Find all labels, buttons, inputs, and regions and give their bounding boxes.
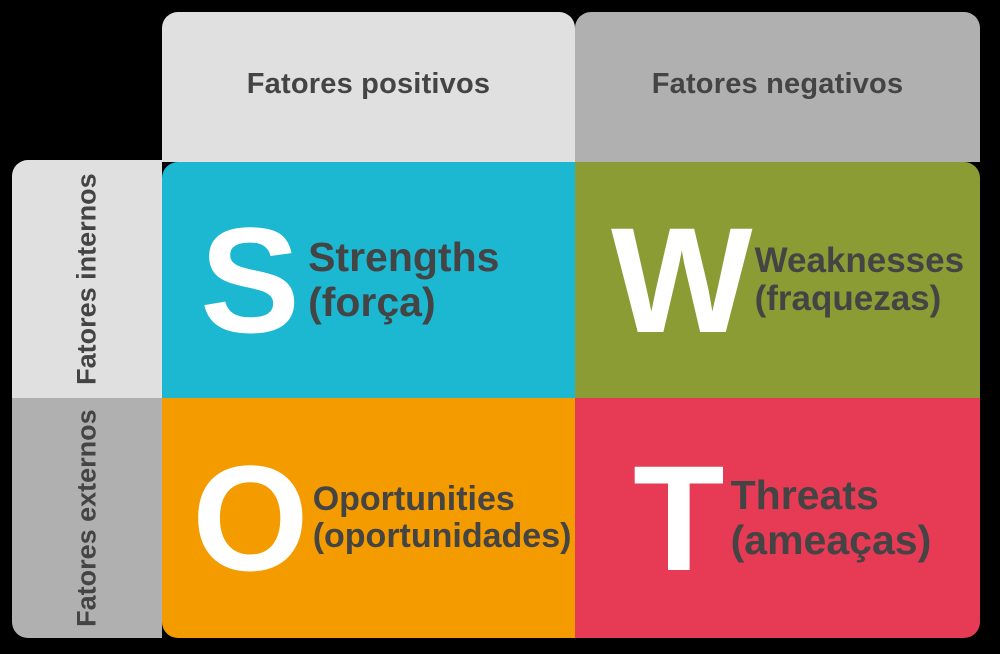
quadrant-weaknesses-letter: W (611, 220, 753, 340)
column-header-negative-factors: Fatores negativos (575, 12, 980, 162)
quadrant-threats[interactable]: T Threats (ameaças) (575, 398, 980, 638)
quadrant-weaknesses-title: Weaknesses (755, 242, 965, 281)
quadrant-opportunities-letter: O (192, 458, 309, 578)
quadrant-strengths-text: Strengths (força) (308, 235, 499, 325)
row-header-internal-factors: Fatores internos (12, 160, 162, 398)
quadrant-threats-letter: T (633, 458, 725, 578)
quadrant-threats-text: Threats (ameaças) (731, 473, 932, 563)
column-header-positive-label: Fatores positivos (247, 68, 491, 101)
quadrant-opportunities-title: Oportunities (313, 481, 572, 518)
quadrant-weaknesses[interactable]: W Weaknesses (fraquezas) (575, 162, 980, 398)
column-header-negative-label: Fatores negativos (652, 68, 904, 101)
row-header-external-label: Fatores externos (72, 409, 102, 627)
quadrant-opportunities-subtitle: (oportunidades) (313, 518, 572, 555)
row-header-external-factors: Fatores externos (12, 398, 162, 638)
quadrant-strengths-title: Strengths (308, 235, 499, 280)
quadrant-weaknesses-text: Weaknesses (fraquezas) (755, 242, 965, 319)
quadrant-opportunities[interactable]: O Oportunities (oportunidades) (162, 398, 575, 638)
quadrant-opportunities-text: Oportunities (oportunidades) (313, 481, 572, 556)
row-header-internal-label: Fatores internos (72, 173, 102, 385)
swot-matrix-diagram: Fatores positivos Fatores negativos Fato… (0, 0, 1000, 654)
quadrant-strengths-letter: S (200, 220, 300, 340)
column-header-positive-factors: Fatores positivos (162, 12, 575, 162)
quadrant-strengths-subtitle: (força) (308, 280, 499, 325)
quadrant-threats-title: Threats (731, 473, 932, 518)
quadrant-strengths[interactable]: S Strengths (força) (162, 162, 575, 398)
quadrant-weaknesses-subtitle: (fraquezas) (755, 280, 965, 319)
quadrant-threats-subtitle: (ameaças) (731, 518, 932, 563)
